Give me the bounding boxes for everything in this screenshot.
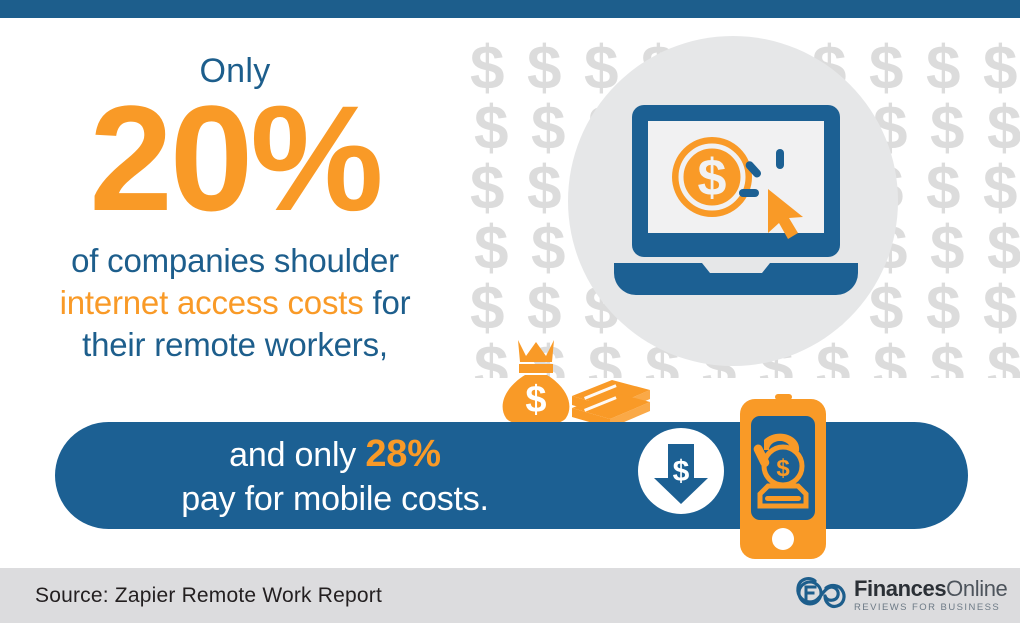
dollar-sign-glyph: $ bbox=[987, 338, 1020, 378]
laptop-with-dollar-coin-icon: $ bbox=[608, 105, 864, 295]
dollar-sign-glyph: $ bbox=[474, 218, 508, 280]
top-accent-bar bbox=[0, 0, 1020, 18]
logo-tagline: REVIEWS FOR BUSINESS bbox=[854, 603, 1007, 613]
dollar-down-arrow-icon: $ bbox=[638, 428, 724, 514]
banner-text-block: and only 28% pay for mobile costs. bbox=[55, 432, 615, 521]
headline-subcopy: of companies shoulder internet access co… bbox=[0, 240, 470, 366]
svg-text:$: $ bbox=[525, 379, 546, 421]
dollar-sign-glyph: $ bbox=[869, 38, 903, 100]
dollar-sign-glyph: $ bbox=[470, 158, 504, 220]
dollar-sign-glyph: $ bbox=[926, 158, 960, 220]
mobile-payment-phone-icon: $ bbox=[736, 394, 830, 562]
svg-text:$: $ bbox=[673, 455, 690, 488]
banner-line-2: pay for mobile costs. bbox=[55, 477, 615, 521]
dollar-sign-glyph: $ bbox=[987, 218, 1020, 280]
dollar-sign-glyph: $ bbox=[527, 158, 561, 220]
dollar-sign-glyph: $ bbox=[474, 98, 508, 160]
svg-text:$: $ bbox=[776, 455, 790, 482]
subcopy-line-2-tail: for bbox=[364, 284, 411, 321]
primary-stat: 20% bbox=[0, 94, 470, 222]
money-bag-and-cash-icon: $ bbox=[492, 336, 652, 432]
banner-line-1: and only 28% bbox=[55, 432, 615, 477]
banner-line-1-prefix: and only bbox=[229, 436, 365, 474]
dollar-sign-glyph: $ bbox=[926, 38, 960, 100]
dollar-sign-glyph: $ bbox=[926, 278, 960, 340]
dollar-sign-glyph: $ bbox=[470, 278, 504, 340]
logo-wordmark: FinancesOnline REVIEWS FOR BUSINESS bbox=[854, 578, 1007, 613]
secondary-stat: 28% bbox=[365, 433, 440, 475]
dollar-sign-glyph: $ bbox=[470, 38, 504, 100]
dollar-sign-glyph: $ bbox=[983, 38, 1017, 100]
subcopy-line-1: of companies shoulder bbox=[0, 240, 470, 282]
subcopy-highlight: internet access costs bbox=[60, 284, 364, 321]
dollar-sign-glyph: $ bbox=[816, 338, 850, 378]
logo-name: FinancesOnline bbox=[854, 576, 1007, 601]
dollar-sign-glyph: $ bbox=[930, 338, 964, 378]
dollar-sign-glyph: $ bbox=[869, 278, 903, 340]
dollar-sign-glyph: $ bbox=[527, 38, 561, 100]
dollar-sign-glyph: $ bbox=[531, 98, 565, 160]
dollar-sign-glyph: $ bbox=[987, 98, 1020, 160]
logo-name-bold: Finances bbox=[854, 576, 946, 601]
svg-text:$: $ bbox=[698, 149, 727, 207]
headline-block: Only 20% of companies shoulder internet … bbox=[0, 52, 470, 366]
subcopy-line-2: internet access costs for bbox=[0, 282, 470, 324]
dollar-sign-glyph: $ bbox=[930, 218, 964, 280]
dollar-sign-glyph: $ bbox=[531, 218, 565, 280]
dollar-sign-glyph: $ bbox=[527, 278, 561, 340]
subcopy-line-3: their remote workers, bbox=[0, 324, 470, 366]
source-citation: Source: Zapier Remote Work Report bbox=[35, 583, 382, 609]
dollar-sign-glyph: $ bbox=[930, 98, 964, 160]
dollar-sign-glyph: $ bbox=[983, 158, 1017, 220]
infographic-canvas: $$$$$$$$$$$$$$$$$$$$$$$$$$$$$$$$$$$$$$$$… bbox=[0, 0, 1020, 623]
financesonline-logo-mark-icon bbox=[795, 575, 847, 615]
financesonline-logo[interactable]: FinancesOnline REVIEWS FOR BUSINESS bbox=[795, 572, 995, 618]
dollar-sign-glyph: $ bbox=[873, 338, 907, 378]
dollar-sign-glyph: $ bbox=[983, 278, 1017, 340]
logo-name-light: Online bbox=[946, 576, 1007, 601]
